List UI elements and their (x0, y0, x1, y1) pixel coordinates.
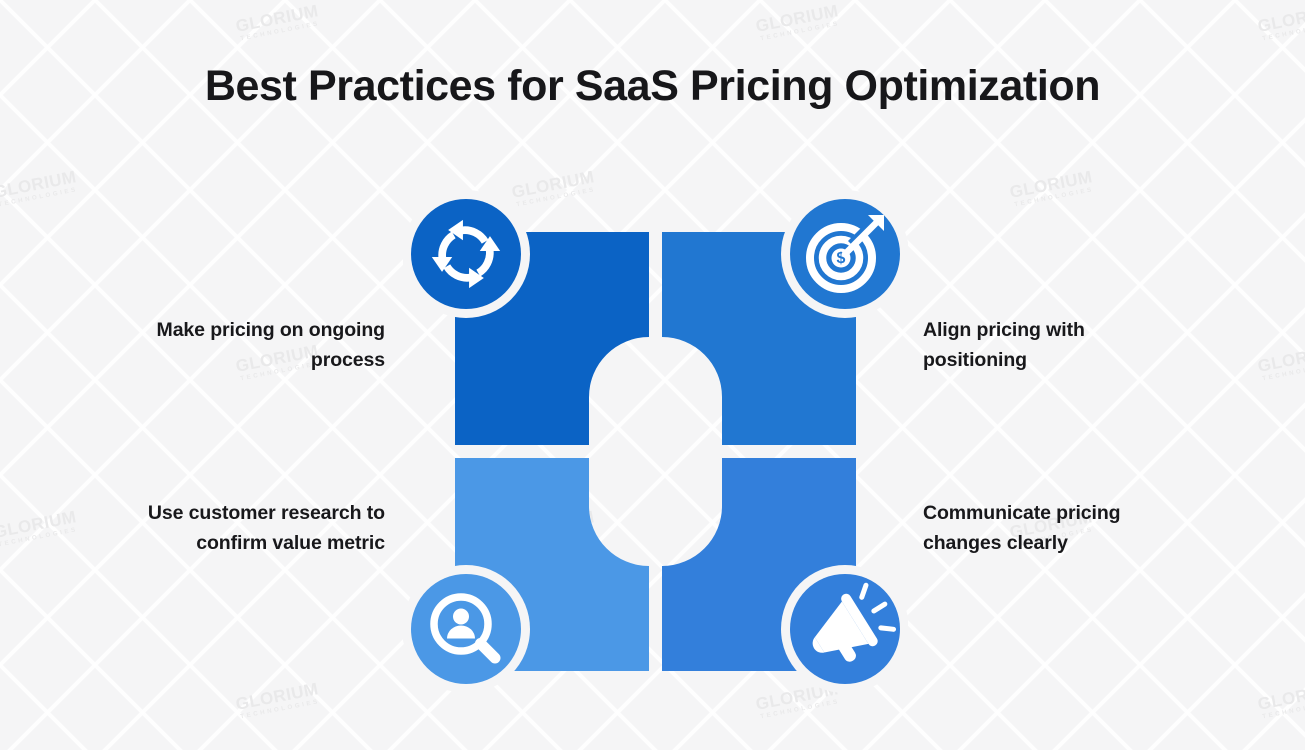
page-title: Best Practices for SaaS Pricing Optimiza… (0, 62, 1305, 111)
watermark: GLORIUM TECHNOLOGIES (754, 2, 841, 43)
watermark-sub: TECHNOLOGIES (240, 699, 321, 721)
watermark-main: GLORIUM (754, 2, 839, 35)
badge-top-left[interactable] (403, 190, 530, 318)
watermark-sub: TECHNOLOGIES (0, 187, 79, 209)
watermark: GLORIUM TECHNOLOGIES (1256, 680, 1305, 721)
watermark: GLORIUM TECHNOLOGIES (234, 2, 321, 43)
badge-top-right[interactable]: $ (781, 190, 908, 318)
watermark-sub: TECHNOLOGIES (1014, 187, 1095, 209)
watermark-sub: TECHNOLOGIES (0, 527, 79, 549)
watermark-main: GLORIUM (0, 508, 78, 541)
watermark-main: GLORIUM (234, 680, 319, 713)
watermark: GLORIUM TECHNOLOGIES (1008, 168, 1095, 209)
watermark: GLORIUM TECHNOLOGIES (1256, 342, 1305, 383)
label-align-pricing-positioning: Align pricing with positioning (923, 315, 1183, 375)
badge-circle (411, 199, 521, 309)
watermark: GLORIUM TECHNOLOGIES (0, 508, 79, 549)
watermark-main: GLORIUM (1256, 2, 1305, 35)
watermark-sub: TECHNOLOGIES (1262, 21, 1305, 43)
watermark-main: GLORIUM (234, 2, 319, 35)
watermark: GLORIUM TECHNOLOGIES (0, 168, 79, 209)
watermark-sub: TECHNOLOGIES (760, 21, 841, 43)
watermark-main: GLORIUM (0, 168, 78, 201)
watermark-main: GLORIUM (1008, 168, 1093, 201)
badge-bottom-left[interactable] (403, 565, 530, 693)
watermark-sub: TECHNOLOGIES (760, 699, 841, 721)
pricing-quadrant-diagram: $ (403, 187, 908, 697)
watermark-sub: TECHNOLOGIES (1262, 699, 1305, 721)
watermark-main: GLORIUM (1256, 342, 1305, 375)
watermark: GLORIUM TECHNOLOGIES (1256, 2, 1305, 43)
watermark: GLORIUM TECHNOLOGIES (234, 680, 321, 721)
watermark-main: GLORIUM (1256, 680, 1305, 713)
label-make-pricing-ongoing: Make pricing on ongoing process (130, 315, 385, 375)
watermark-sub: TECHNOLOGIES (240, 21, 321, 43)
label-use-customer-research: Use customer research to confirm value m… (130, 498, 385, 558)
watermark-sub: TECHNOLOGIES (1262, 361, 1305, 383)
label-communicate-pricing-changes: Communicate pricing changes clearly (923, 498, 1183, 558)
badge-bottom-right[interactable] (781, 565, 908, 693)
